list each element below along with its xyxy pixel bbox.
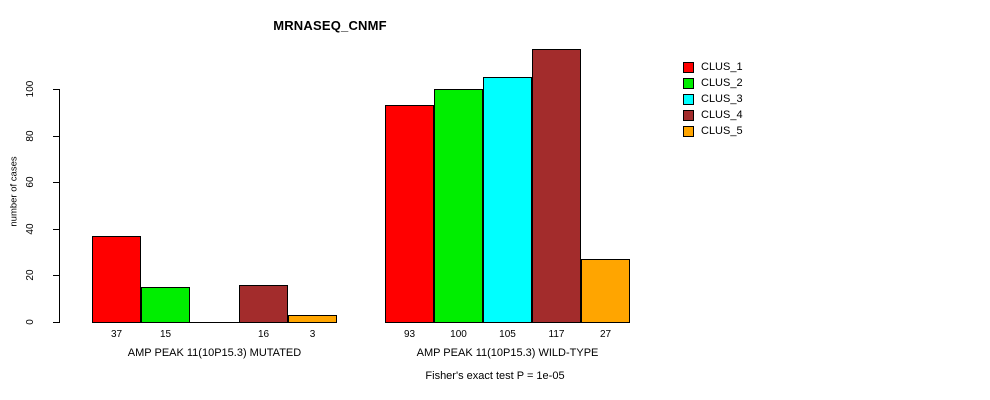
bar-value-label: 93: [385, 329, 434, 340]
y-axis-tick-mark: [53, 229, 59, 230]
bar-value-label: 37: [92, 329, 141, 340]
bar[interactable]: [190, 322, 239, 323]
footer-note: Fisher's exact test P = 1e-05: [0, 370, 990, 382]
bar[interactable]: [239, 285, 288, 323]
bar[interactable]: [532, 49, 581, 323]
y-axis-title: number of cases: [9, 142, 20, 242]
legend-swatch-icon: [683, 94, 694, 105]
bar[interactable]: [483, 77, 532, 323]
group-axis-label: AMP PEAK 11(10P15.3) WILD-TYPE: [348, 347, 668, 359]
y-axis-tick-mark: [53, 275, 59, 276]
legend-item-label: CLUS_3: [701, 94, 743, 105]
y-axis-tick-label: 0: [26, 305, 36, 339]
legend-swatch-icon: [683, 78, 694, 89]
y-axis-tick-label: 100: [26, 72, 36, 106]
bar-value-label: 100: [434, 329, 483, 340]
y-axis-tick-mark: [53, 89, 59, 90]
y-axis-tick-label: 40: [26, 212, 36, 246]
bar-value-label: 15: [141, 329, 190, 340]
legend-item[interactable]: CLUS_2: [683, 76, 743, 90]
bar-value-label: 105: [483, 329, 532, 340]
bar[interactable]: [385, 105, 434, 323]
y-axis-tick-label: 80: [26, 119, 36, 153]
bar[interactable]: [92, 236, 141, 323]
bar[interactable]: [141, 287, 190, 323]
legend-swatch-icon: [683, 126, 694, 137]
y-axis-tick-label: 60: [26, 165, 36, 199]
legend-item[interactable]: CLUS_4: [683, 108, 743, 122]
legend-item[interactable]: CLUS_5: [683, 124, 743, 138]
y-axis-tick-mark: [53, 182, 59, 183]
legend-item[interactable]: CLUS_3: [683, 92, 743, 106]
legend-swatch-icon: [683, 62, 694, 73]
y-axis-tick-mark: [53, 136, 59, 137]
footer-note-text: Fisher's exact test P = 1e-05: [425, 370, 564, 382]
y-axis-tick-label: 20: [26, 258, 36, 292]
chart-canvas: MRNASEQ_CNMF number of cases 02040608010…: [0, 0, 990, 400]
bar[interactable]: [581, 259, 630, 323]
y-axis-line: [59, 89, 60, 323]
bar[interactable]: [288, 315, 337, 323]
legend-item-label: CLUS_1: [701, 62, 743, 73]
legend-swatch-icon: [683, 110, 694, 121]
group-axis-label: AMP PEAK 11(10P15.3) MUTATED: [55, 347, 375, 359]
legend-item[interactable]: CLUS_1: [683, 60, 743, 74]
legend-item-label: CLUS_2: [701, 78, 743, 89]
bar-value-label: 117: [532, 329, 581, 340]
bar[interactable]: [434, 89, 483, 323]
legend-item-label: CLUS_5: [701, 126, 743, 137]
bar-value-label: 16: [239, 329, 288, 340]
bar-value-label: 27: [581, 329, 630, 340]
y-axis-tick-mark: [53, 322, 59, 323]
plot-area: number of cases 020406080100 3715163AMP …: [0, 0, 660, 400]
bar-value-label: 3: [288, 329, 337, 340]
legend: CLUS_1CLUS_2CLUS_3CLUS_4CLUS_5: [683, 60, 743, 140]
legend-item-label: CLUS_4: [701, 110, 743, 121]
